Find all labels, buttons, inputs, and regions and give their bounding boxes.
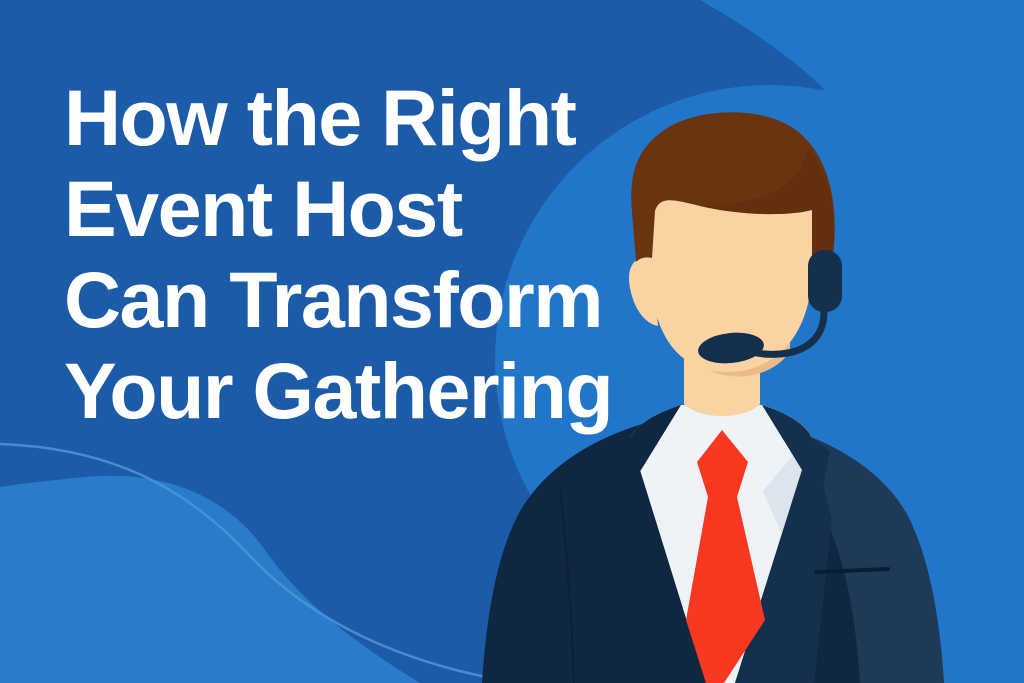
headline: How the Right Event Host Can Transform Y…: [64, 72, 644, 436]
headline-line-4: Your Gathering: [64, 345, 644, 436]
headset-earpiece: [808, 250, 842, 312]
headline-line-1: How the Right: [64, 72, 644, 163]
headline-line-2: Event Host: [64, 163, 644, 254]
headline-line-3: Can Transform: [64, 254, 644, 345]
banner-root: How the Right Event Host Can Transform Y…: [0, 0, 1024, 683]
